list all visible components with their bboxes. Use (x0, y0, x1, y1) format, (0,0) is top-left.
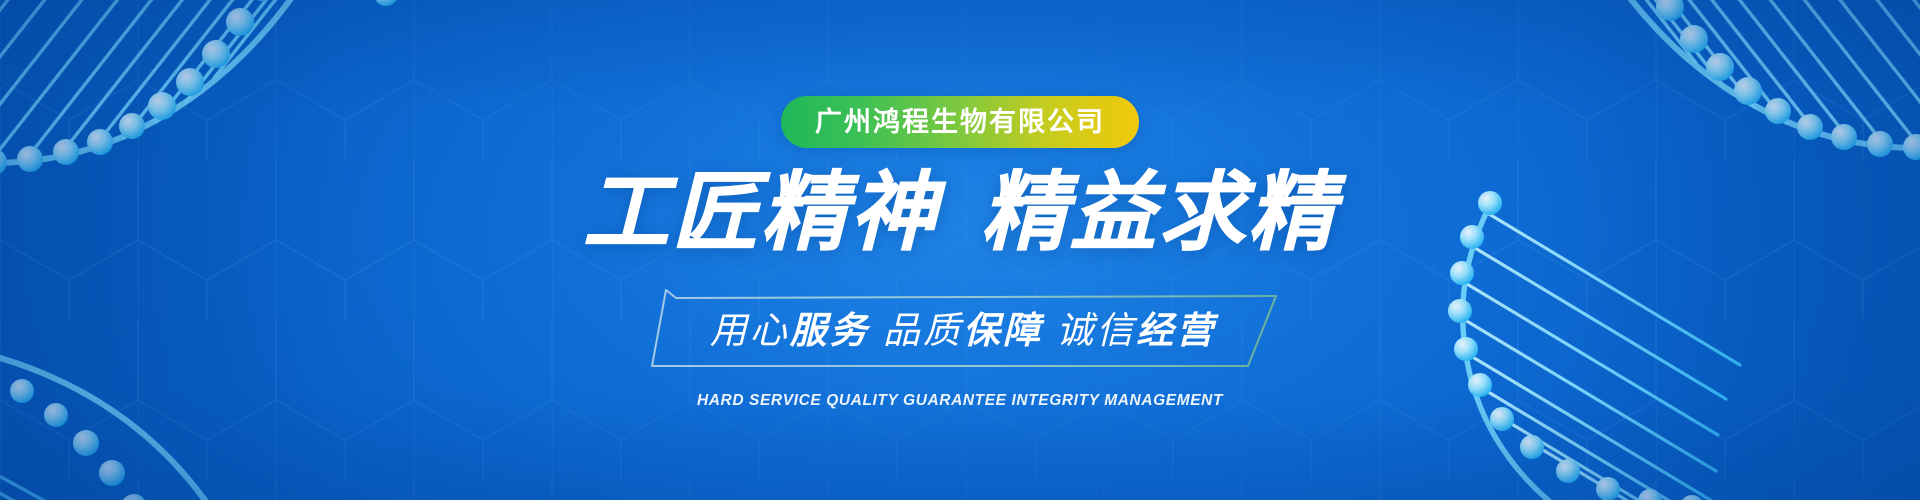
subtitle-seg2-light: 品质 (883, 300, 963, 354)
subtitle-seg3-bold: 经营 (1136, 300, 1216, 354)
subtitle-seg3-light: 诚信 (1056, 300, 1136, 354)
company-name-badge: 广州鸿程生物有限公司 (781, 96, 1139, 148)
subtitle-text: 用心服务 品质保障 诚信经营 (630, 286, 1290, 368)
subtitle-seg1-bold: 服务 (790, 300, 870, 354)
headline-part-2: 精益求精 (981, 165, 1337, 261)
headline-part-1: 工匠精神 (583, 165, 939, 261)
headline: 工匠精神精益求精 (583, 170, 1337, 256)
promo-banner: 广州鸿程生物有限公司 工匠精神精益求精 用心服务 品质保障 诚信经营 HARD … (0, 0, 1920, 500)
banner-content: 广州鸿程生物有限公司 工匠精神精益求精 用心服务 品质保障 诚信经营 HARD … (0, 0, 1920, 500)
subtitle-seg2-bold: 保障 (963, 300, 1043, 354)
english-tagline: HARD SERVICE QUALITY GUARANTEE INTEGRITY… (697, 392, 1223, 410)
subtitle-seg1-light: 用心 (710, 300, 790, 354)
subtitle-box: 用心服务 品质保障 诚信经营 (630, 286, 1290, 368)
